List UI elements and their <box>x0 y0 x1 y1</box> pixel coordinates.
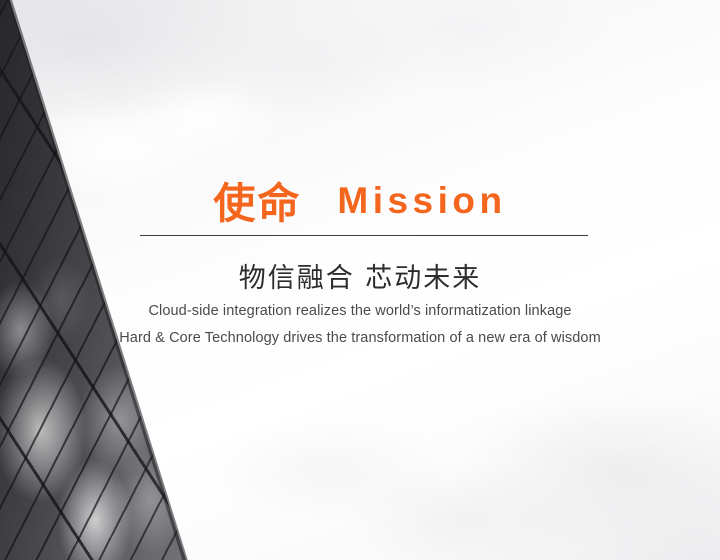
title-divider <box>140 235 588 236</box>
slogan-chinese: 物信融合 芯动未来 <box>0 256 720 295</box>
description-line-2: Hard & Core Technology drives the transf… <box>0 330 720 346</box>
page-title-chinese: 使命 <box>213 179 301 228</box>
description-line-1: Cloud-side integration realizes the worl… <box>0 303 720 319</box>
page-title-english: Mission <box>337 180 506 221</box>
content-block: 使命Mission 物信融合 芯动未来 Cloud-side integrati… <box>0 0 720 560</box>
mission-banner: 使命Mission 物信融合 芯动未来 Cloud-side integrati… <box>0 0 720 560</box>
page-title: 使命Mission <box>0 170 720 231</box>
